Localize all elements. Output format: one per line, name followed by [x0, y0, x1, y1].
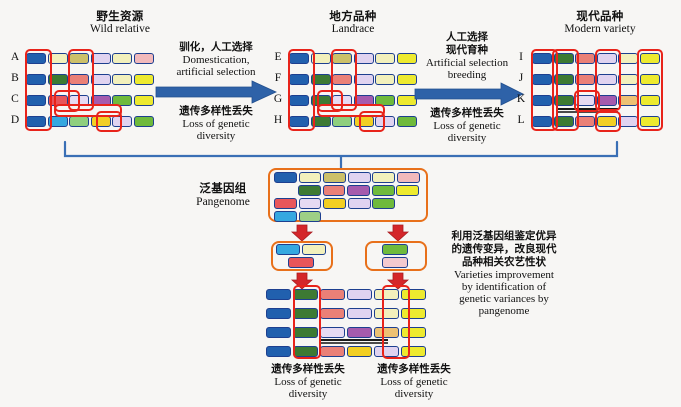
arrow2-top-cn-2: 现代育种: [408, 44, 526, 57]
landrace-title-en: Landrace: [288, 23, 418, 36]
wild-row-label-b: B: [8, 72, 22, 84]
deletion-marker: [320, 342, 388, 344]
genome-row: [274, 172, 422, 183]
arrow1-bottom-en-1: Loss of genetic: [152, 118, 280, 131]
wild-row-label-d: D: [8, 114, 22, 126]
figure-canvas: 野生资源 Wild relative A B C D 驯化，人工选择 Domes…: [0, 0, 681, 407]
arrow2-top-cn-1: 人工选择: [408, 31, 526, 44]
gene-block: [266, 308, 291, 319]
gene-block: [299, 198, 322, 209]
improvement-en-1: Varieties improvement: [424, 269, 584, 282]
modern-row-label-k: K: [514, 93, 528, 105]
wild-title-cn: 野生资源: [55, 10, 185, 23]
modern-row-label-j: J: [514, 72, 528, 84]
gene-block: [320, 346, 345, 357]
landrace-row-label-e: E: [271, 51, 285, 63]
gene-block: [323, 198, 346, 209]
improvement-en-2: by identification of: [424, 281, 584, 294]
arrow2-top-en-2: breeding: [404, 69, 530, 82]
gene-block: [134, 74, 154, 85]
gene-block: [375, 74, 395, 85]
genome-row: [382, 244, 410, 255]
modern-title-en: Modern variety: [535, 23, 665, 36]
wild-row-label-c: C: [8, 93, 22, 105]
gene-block: [618, 74, 638, 85]
wild-title-en: Wild relative: [55, 23, 185, 36]
gene-block: [112, 53, 132, 64]
gene-block: [375, 53, 395, 64]
gene-block: [348, 172, 371, 183]
highlight-box: [293, 285, 321, 359]
improvement-en-3: genetic variances by: [424, 293, 584, 306]
gene-block: [266, 346, 291, 357]
genome-row: [298, 185, 422, 196]
landrace-row-label-f: F: [271, 72, 285, 84]
gene-block: [266, 289, 291, 300]
gene-block: [347, 327, 372, 338]
modern-title-cn: 现代品种: [535, 10, 665, 23]
gene-block: [134, 116, 154, 127]
gene-block: [276, 244, 300, 255]
gene-block: [347, 185, 370, 196]
gene-block: [618, 53, 638, 64]
gene-block: [320, 327, 345, 338]
landrace-title-cn: 地方品种: [288, 10, 418, 23]
arrow1-top-en-1: Domestication,: [152, 54, 280, 67]
wild-row-label-a: A: [8, 51, 22, 63]
arrow2-top-en-1: Artificial selection: [404, 57, 530, 70]
highlight-box: [595, 111, 621, 132]
landrace-row-label-h: H: [271, 114, 285, 126]
genome-row: [276, 244, 328, 255]
improvement-en-4: pangenome: [424, 305, 584, 318]
highlight-box: [552, 49, 579, 131]
gene-block: [320, 308, 345, 319]
gene-block: [134, 95, 154, 106]
highlight-box: [637, 49, 663, 131]
arrow1-bottom-cn: 遗传多样性丢失: [152, 105, 280, 118]
gene-block: [298, 185, 321, 196]
gene-block: [348, 198, 371, 209]
gene-block: [299, 211, 322, 222]
gene-block: [134, 53, 154, 64]
gene-block: [618, 116, 638, 127]
genome-row: [288, 257, 316, 268]
gene-block: [274, 211, 297, 222]
gene-block: [396, 185, 419, 196]
arrow1-top-cn: 驯化，人工选择: [152, 41, 280, 54]
gene-block: [323, 172, 346, 183]
gene-block: [347, 289, 372, 300]
improvement-cn-1: 利用泛基因组鉴定优异: [424, 230, 584, 243]
gene-block: [382, 257, 408, 268]
down-arrow-icon: [386, 224, 410, 242]
gene-block: [302, 244, 326, 255]
breeding-arrow-icon: [413, 82, 525, 106]
gene-block: [618, 95, 638, 106]
gene-block: [299, 172, 322, 183]
modern-row-label-l: L: [514, 114, 528, 126]
improvement-cn-3: 品种相关农艺性状: [424, 256, 584, 269]
gene-block: [274, 198, 297, 209]
pangenome-title-cn: 泛基因组: [178, 182, 268, 195]
domestication-arrow-icon: [154, 80, 278, 104]
modern-row-label-i: I: [514, 51, 528, 63]
bottom-caption-right-cn: 遗传多样性丢失: [351, 363, 477, 376]
genome-row: [274, 211, 324, 222]
bottom-caption-right-en-1: Loss of genetic: [351, 376, 477, 389]
gene-block: [347, 308, 372, 319]
highlight-box: [574, 90, 600, 112]
gene-block: [69, 116, 89, 127]
arrow2-bottom-en-1: Loss of genetic: [407, 120, 527, 133]
arrow2-bottom-cn: 遗传多样性丢失: [407, 107, 527, 120]
genome-row: [382, 257, 410, 268]
gene-block: [382, 244, 408, 255]
gene-block: [372, 198, 395, 209]
gene-block: [372, 172, 395, 183]
gene-block: [347, 346, 372, 357]
improvement-cn-2: 的遗传变异，改良现代: [424, 243, 584, 256]
highlight-box: [288, 49, 315, 131]
gene-block: [320, 289, 345, 300]
highlight-box: [382, 285, 410, 359]
genome-row: [274, 198, 398, 209]
gene-block: [372, 185, 395, 196]
landrace-row-label-g: G: [271, 93, 285, 105]
gene-block: [332, 116, 352, 127]
highlight-box: [25, 49, 52, 131]
deletion-marker: [320, 339, 388, 341]
bottom-caption-right-en-2: diversity: [351, 388, 477, 401]
down-arrow-icon: [290, 224, 314, 242]
gene-block: [274, 172, 297, 183]
gene-block: [323, 185, 346, 196]
pangenome-title-en: Pangenome: [178, 196, 268, 209]
gene-block: [112, 74, 132, 85]
gene-block: [288, 257, 314, 268]
highlight-box: [96, 111, 122, 132]
gene-block: [266, 327, 291, 338]
arrow1-top-en-2: artificial selection: [152, 66, 280, 79]
gene-block: [397, 172, 420, 183]
highlight-box: [359, 111, 385, 132]
